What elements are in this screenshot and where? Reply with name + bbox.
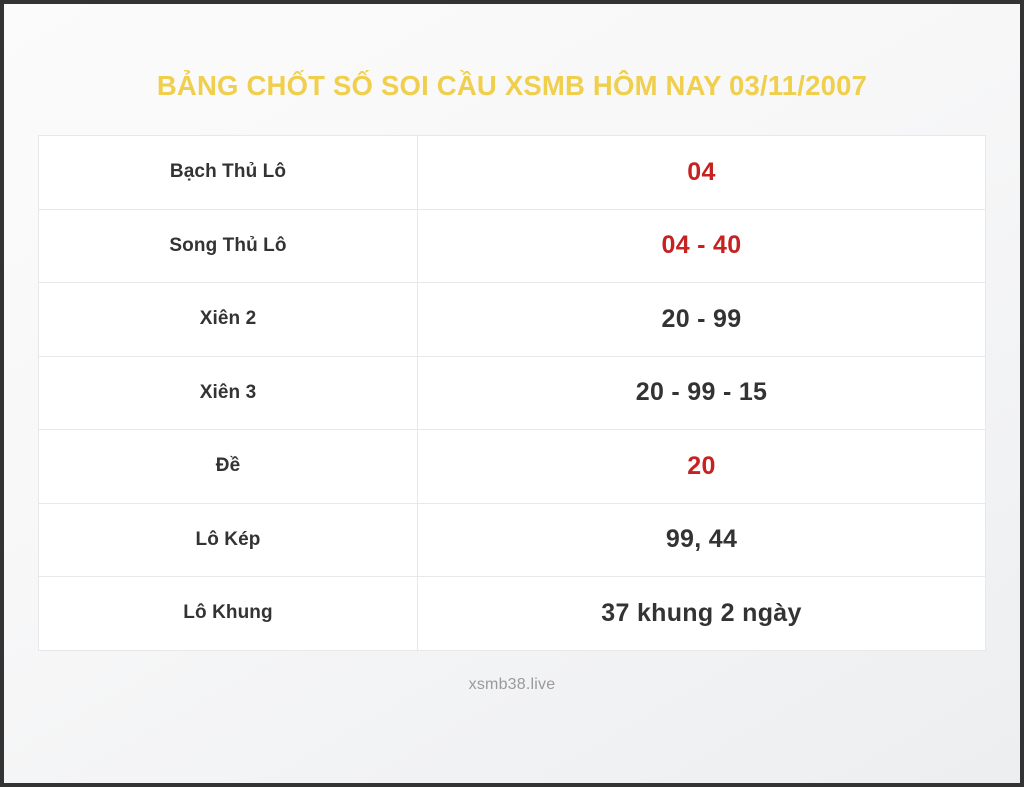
row-value-lo-khung: 37 khung 2 ngày bbox=[418, 577, 986, 651]
row-label-xien-2: Xiên 2 bbox=[39, 283, 418, 357]
row-label-lo-khung: Lô Khung bbox=[39, 577, 418, 651]
row-label-xien-3: Xiên 3 bbox=[39, 356, 418, 430]
row-label-lo-kep: Lô Kép bbox=[39, 503, 418, 577]
page-title: BẢNG CHỐT SỐ SOI CẦU XSMB HÔM NAY 03/11/… bbox=[157, 70, 867, 102]
row-value-de: 20 bbox=[418, 430, 986, 504]
table-row: Xiên 2 20 - 99 bbox=[39, 283, 986, 357]
outer-frame: BẢNG CHỐT SỐ SOI CẦU XSMB HÔM NAY 03/11/… bbox=[0, 0, 1024, 787]
row-value-xien-3: 20 - 99 - 15 bbox=[418, 356, 986, 430]
table-row: Lô Khung 37 khung 2 ngày bbox=[39, 577, 986, 651]
prediction-table: Bạch Thủ Lô 04 Song Thủ Lô 04 - 40 Xiên … bbox=[38, 135, 986, 651]
row-label-bach-thu-lo: Bạch Thủ Lô bbox=[39, 136, 418, 210]
row-label-song-thu-lo: Song Thủ Lô bbox=[39, 209, 418, 283]
table-row: Bạch Thủ Lô 04 bbox=[39, 136, 986, 210]
row-value-xien-2: 20 - 99 bbox=[418, 283, 986, 357]
row-value-song-thu-lo: 04 - 40 bbox=[418, 209, 986, 283]
row-value-bach-thu-lo: 04 bbox=[418, 136, 986, 210]
prediction-table-container: Bạch Thủ Lô 04 Song Thủ Lô 04 - 40 Xiên … bbox=[38, 135, 986, 651]
table-row: Lô Kép 99, 44 bbox=[39, 503, 986, 577]
row-value-lo-kep: 99, 44 bbox=[418, 503, 986, 577]
prediction-table-body: Bạch Thủ Lô 04 Song Thủ Lô 04 - 40 Xiên … bbox=[39, 136, 986, 651]
site-watermark: xsmb38.live bbox=[469, 676, 556, 694]
table-row: Đề 20 bbox=[39, 430, 986, 504]
row-label-de: Đề bbox=[39, 430, 418, 504]
table-row: Song Thủ Lô 04 - 40 bbox=[39, 209, 986, 283]
table-row: Xiên 3 20 - 99 - 15 bbox=[39, 356, 986, 430]
page-canvas: BẢNG CHỐT SỐ SOI CẦU XSMB HÔM NAY 03/11/… bbox=[4, 4, 1020, 783]
